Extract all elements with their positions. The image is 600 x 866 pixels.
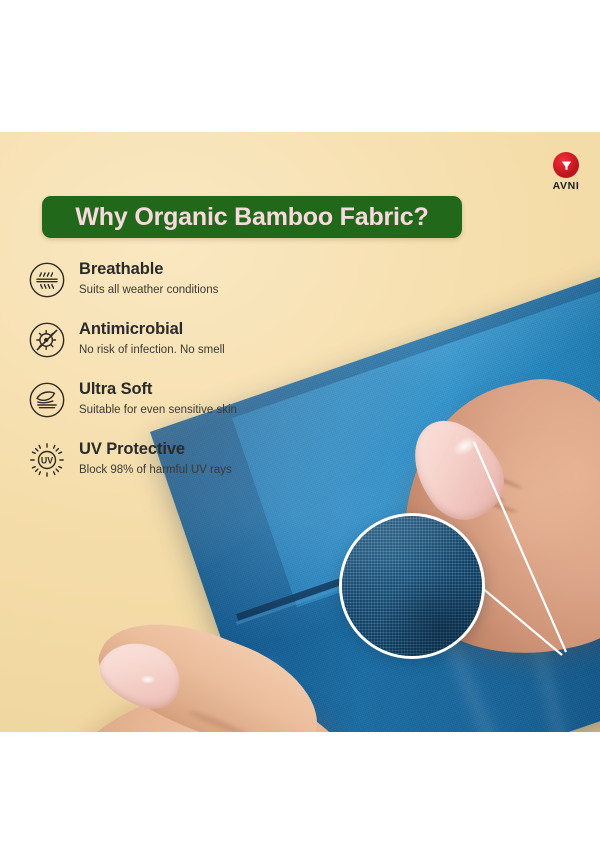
product-infographic-page: AVNI Why Organic Bamboo Fabric?	[0, 0, 600, 866]
feature-subtitle: Suits all weather conditions	[79, 282, 218, 298]
product-photo: AVNI Why Organic Bamboo Fabric?	[0, 132, 600, 732]
feature-subtitle: Suitable for even sensitive skin	[79, 402, 237, 418]
brand-name: AVNI	[545, 180, 587, 192]
feature-title: Antimicrobial	[79, 320, 183, 338]
feature-subtitle: No risk of infection. No smell	[79, 342, 225, 358]
uv-icon-label: UV	[41, 456, 53, 466]
fingernail-lower-shine	[140, 675, 156, 684]
feature-list: Breathable Suits all weather conditions	[27, 258, 357, 498]
brand-logo: AVNI	[545, 152, 587, 192]
feature-title: UV Protective	[79, 440, 185, 458]
headline-banner: Why Organic Bamboo Fabric?	[42, 196, 462, 238]
antimicrobial-icon	[27, 320, 67, 360]
breathable-icon	[27, 260, 67, 300]
magnifier-shading	[342, 516, 482, 656]
feature-item-uv-protective: UV UV Protective Block 98% of harmful UV…	[27, 438, 357, 484]
feature-title: Breathable	[79, 260, 163, 278]
page-title: Why Organic Bamboo Fabric?	[75, 203, 428, 232]
feature-item-ultra-soft: Ultra Soft Suitable for even sensitive s…	[27, 378, 357, 424]
feature-item-antimicrobial: Antimicrobial No risk of infection. No s…	[27, 318, 357, 364]
feature-item-breathable: Breathable Suits all weather conditions	[27, 258, 357, 304]
feature-title: Ultra Soft	[79, 380, 152, 398]
avni-cup-badge-icon	[553, 152, 579, 178]
uv-protective-icon: UV	[27, 440, 67, 480]
ultra-soft-icon	[27, 380, 67, 420]
feature-subtitle: Block 98% of harmful UV rays	[79, 462, 232, 478]
fabric-closeup-magnifier	[339, 513, 485, 659]
